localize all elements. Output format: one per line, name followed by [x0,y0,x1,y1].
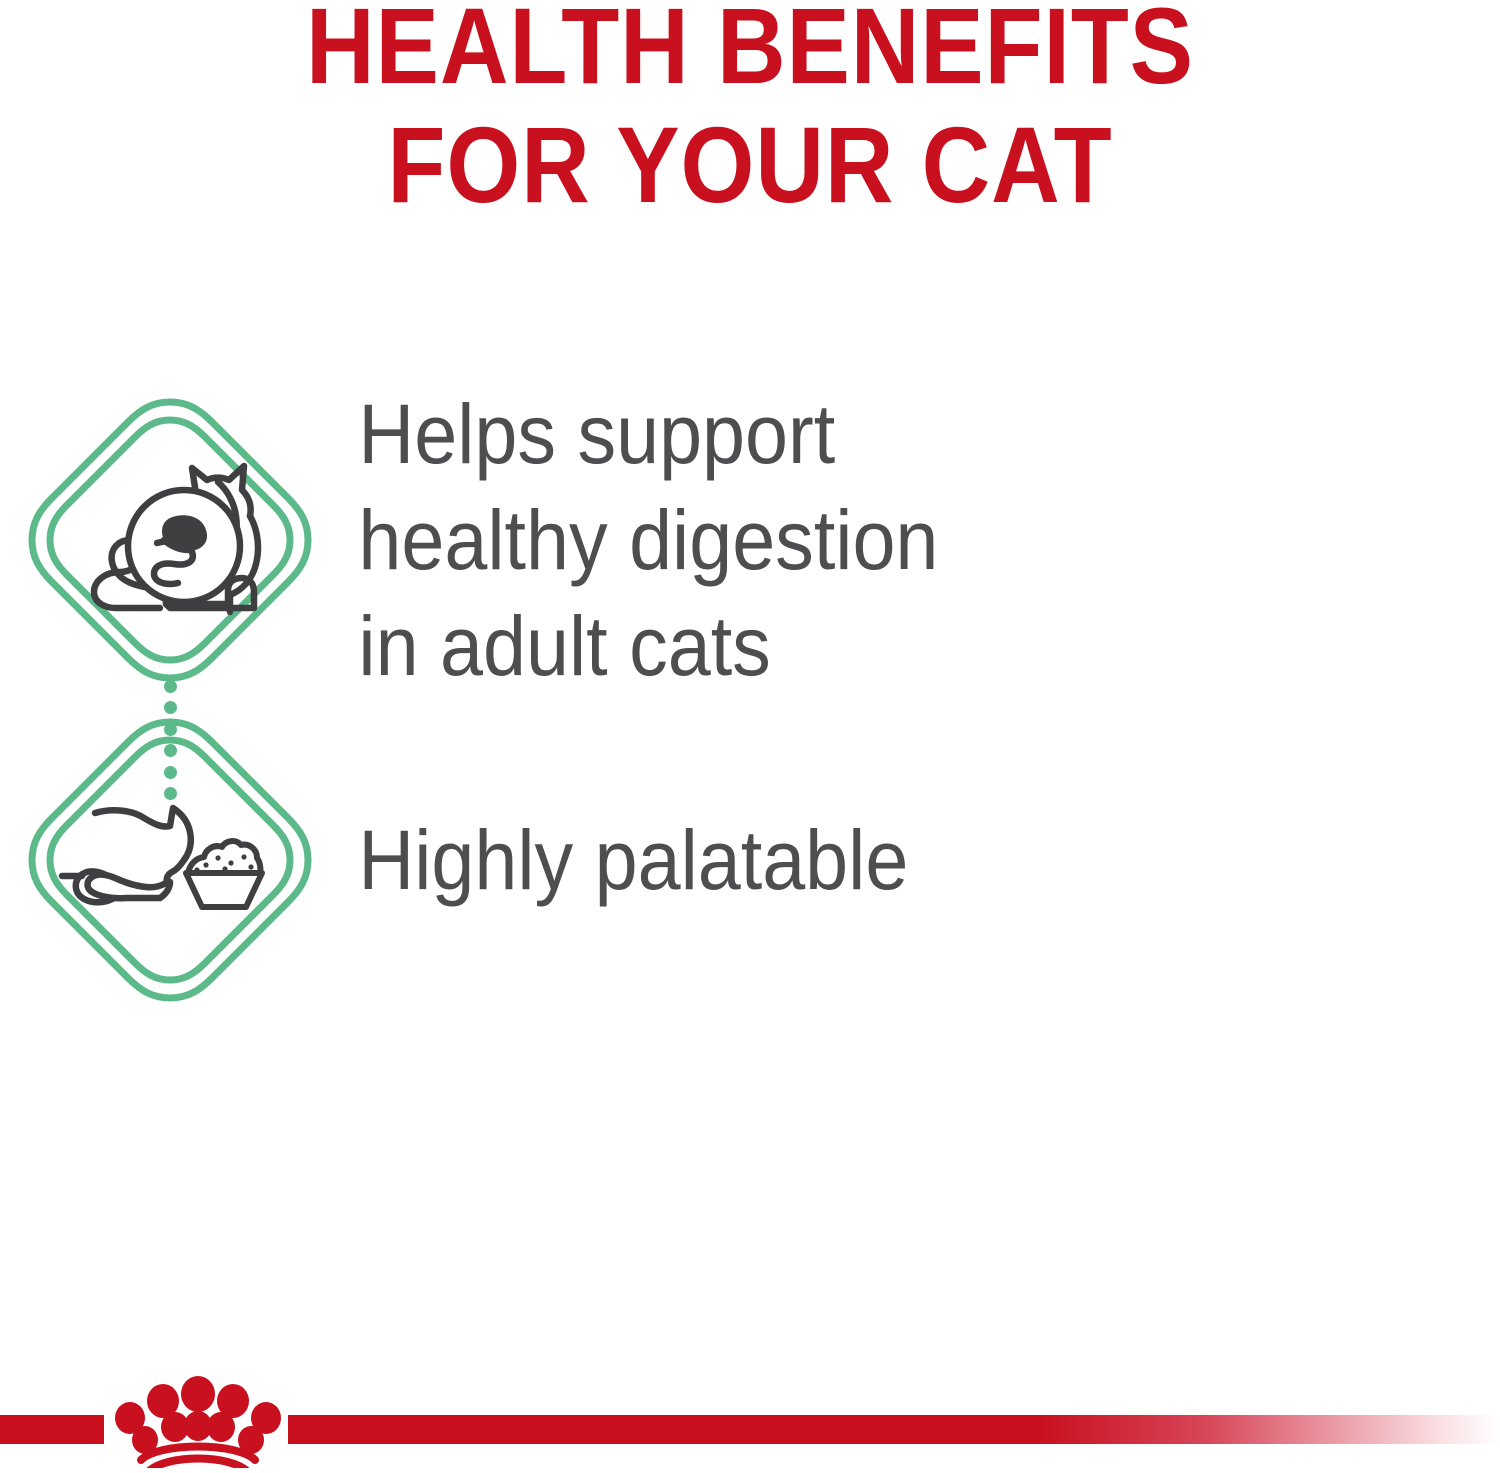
benefit-text-digestion: Helps support healthy digestion in adult… [340,381,938,699]
cat-digestion-icon [0,380,340,700]
page-title-line-1: HEALTH BENEFITS [90,0,1410,105]
benefit-text-palatable: Highly palatable [340,807,908,913]
footer-brand-bar [0,1360,1500,1471]
footer-bar-left-segment [0,1415,104,1444]
royal-canin-crown-logo [104,1368,292,1468]
benefit-item-digestion: Helps support healthy digestion in adult… [0,380,1500,700]
page-title-line-2: FOR YOUR CAT [90,105,1410,224]
footer-bar-right-segment [288,1415,1500,1444]
cat-eating-bowl-icon [0,700,340,1020]
page-title: HEALTH BENEFITS FOR YOUR CAT [0,0,1500,224]
benefits-list: Helps support healthy digestion in adult… [0,380,1500,1020]
benefit-item-palatable: Highly palatable [0,700,1500,1020]
